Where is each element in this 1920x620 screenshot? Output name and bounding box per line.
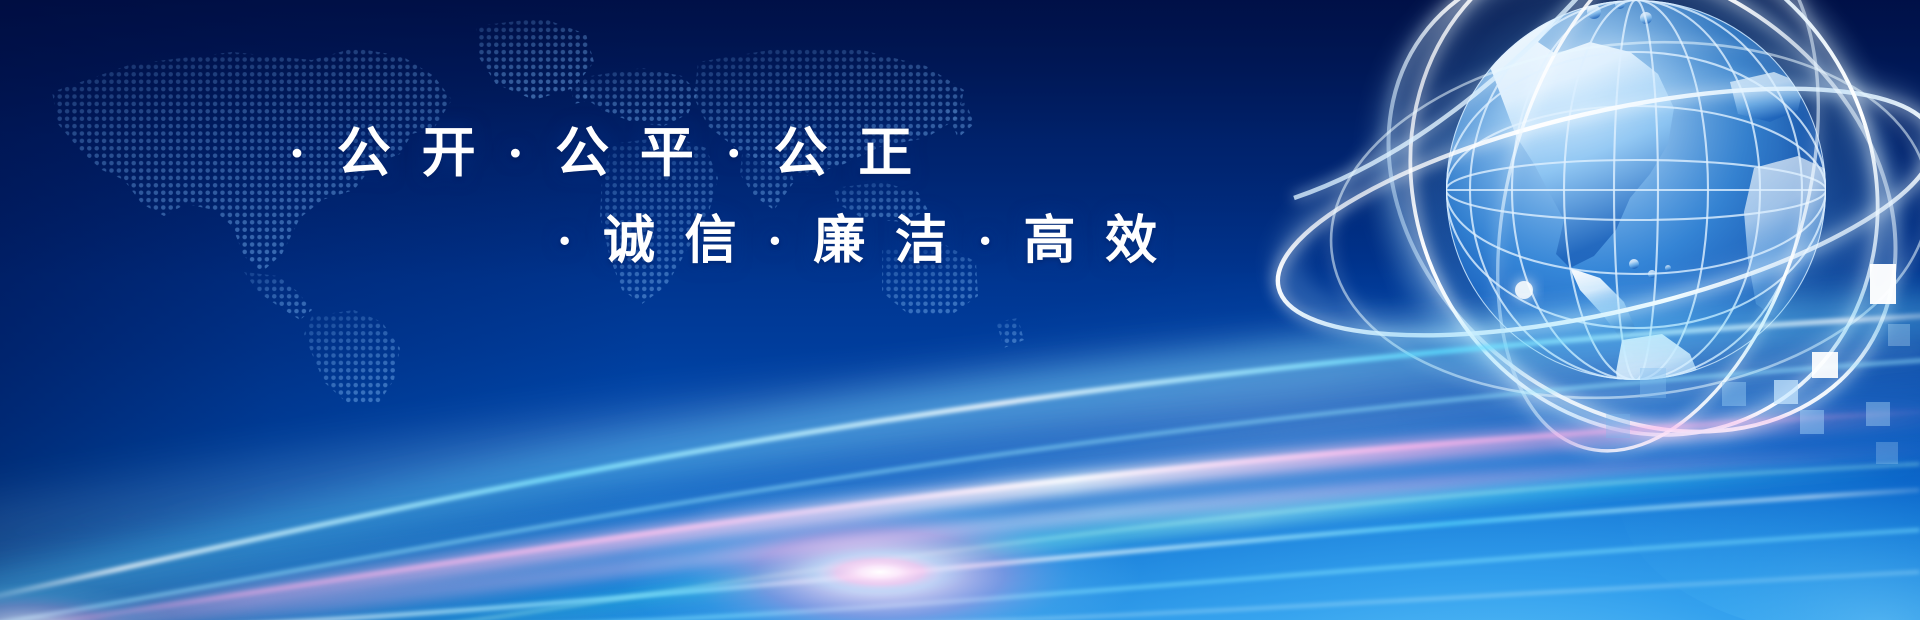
decorative-square bbox=[1774, 380, 1798, 404]
decorative-square bbox=[1606, 414, 1630, 438]
decorative-square bbox=[1870, 264, 1896, 304]
decorative-square bbox=[1866, 402, 1890, 426]
decorative-square bbox=[1640, 368, 1666, 398]
decorative-square bbox=[1800, 410, 1824, 434]
banner-root: · 公 开 · 公 平 · 公 正 · 诚 信 · 廉 洁 · 高 效 bbox=[0, 0, 1920, 620]
decorative-square bbox=[1876, 442, 1898, 464]
decorative-squares bbox=[0, 0, 1920, 620]
decorative-square bbox=[1888, 324, 1910, 346]
decorative-square bbox=[1812, 352, 1838, 378]
decorative-square bbox=[1722, 382, 1746, 406]
